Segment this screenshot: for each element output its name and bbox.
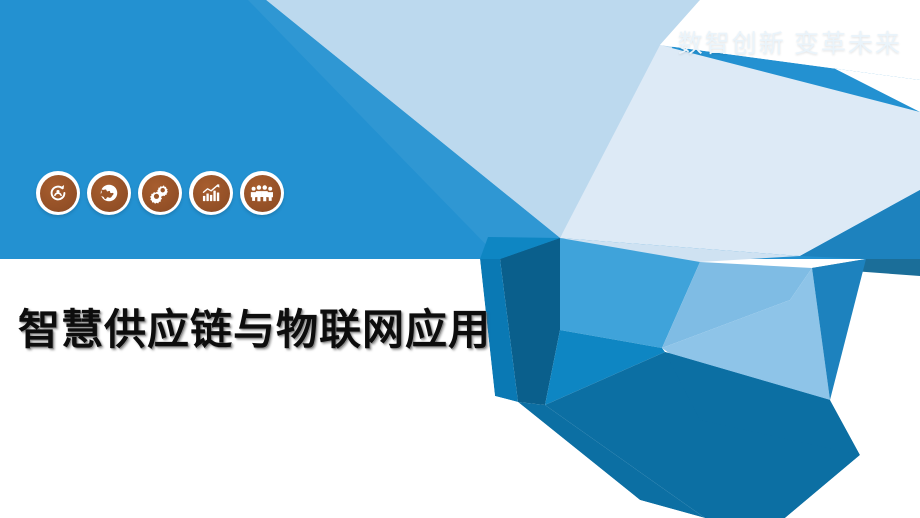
refresh-cycle-icon	[47, 182, 69, 204]
icon-disc	[142, 175, 179, 212]
icon-disc	[91, 175, 128, 212]
low-poly-geometric-artwork	[0, 0, 920, 518]
icon-badge-globe[interactable]	[87, 171, 131, 215]
icon-badge-gears[interactable]	[138, 171, 182, 215]
icon-badge-refresh-cycle[interactable]	[36, 171, 80, 215]
bar-chart-growth-icon	[200, 182, 222, 204]
globe-icon	[98, 182, 120, 204]
icon-row	[36, 171, 284, 215]
icon-disc	[193, 175, 230, 212]
slide-canvas: 数智创新 变革未来	[0, 0, 920, 518]
icon-badge-bar-chart-growth[interactable]	[189, 171, 233, 215]
icon-disc	[244, 175, 281, 212]
icon-disc	[40, 175, 77, 212]
icon-badge-people-group[interactable]	[240, 171, 284, 215]
gears-icon	[149, 182, 172, 205]
people-group-icon	[250, 183, 274, 203]
slide-subtitle: 数智创新 变革未来	[678, 24, 902, 60]
page-title: 智慧供应链与物联网应用	[18, 296, 491, 357]
